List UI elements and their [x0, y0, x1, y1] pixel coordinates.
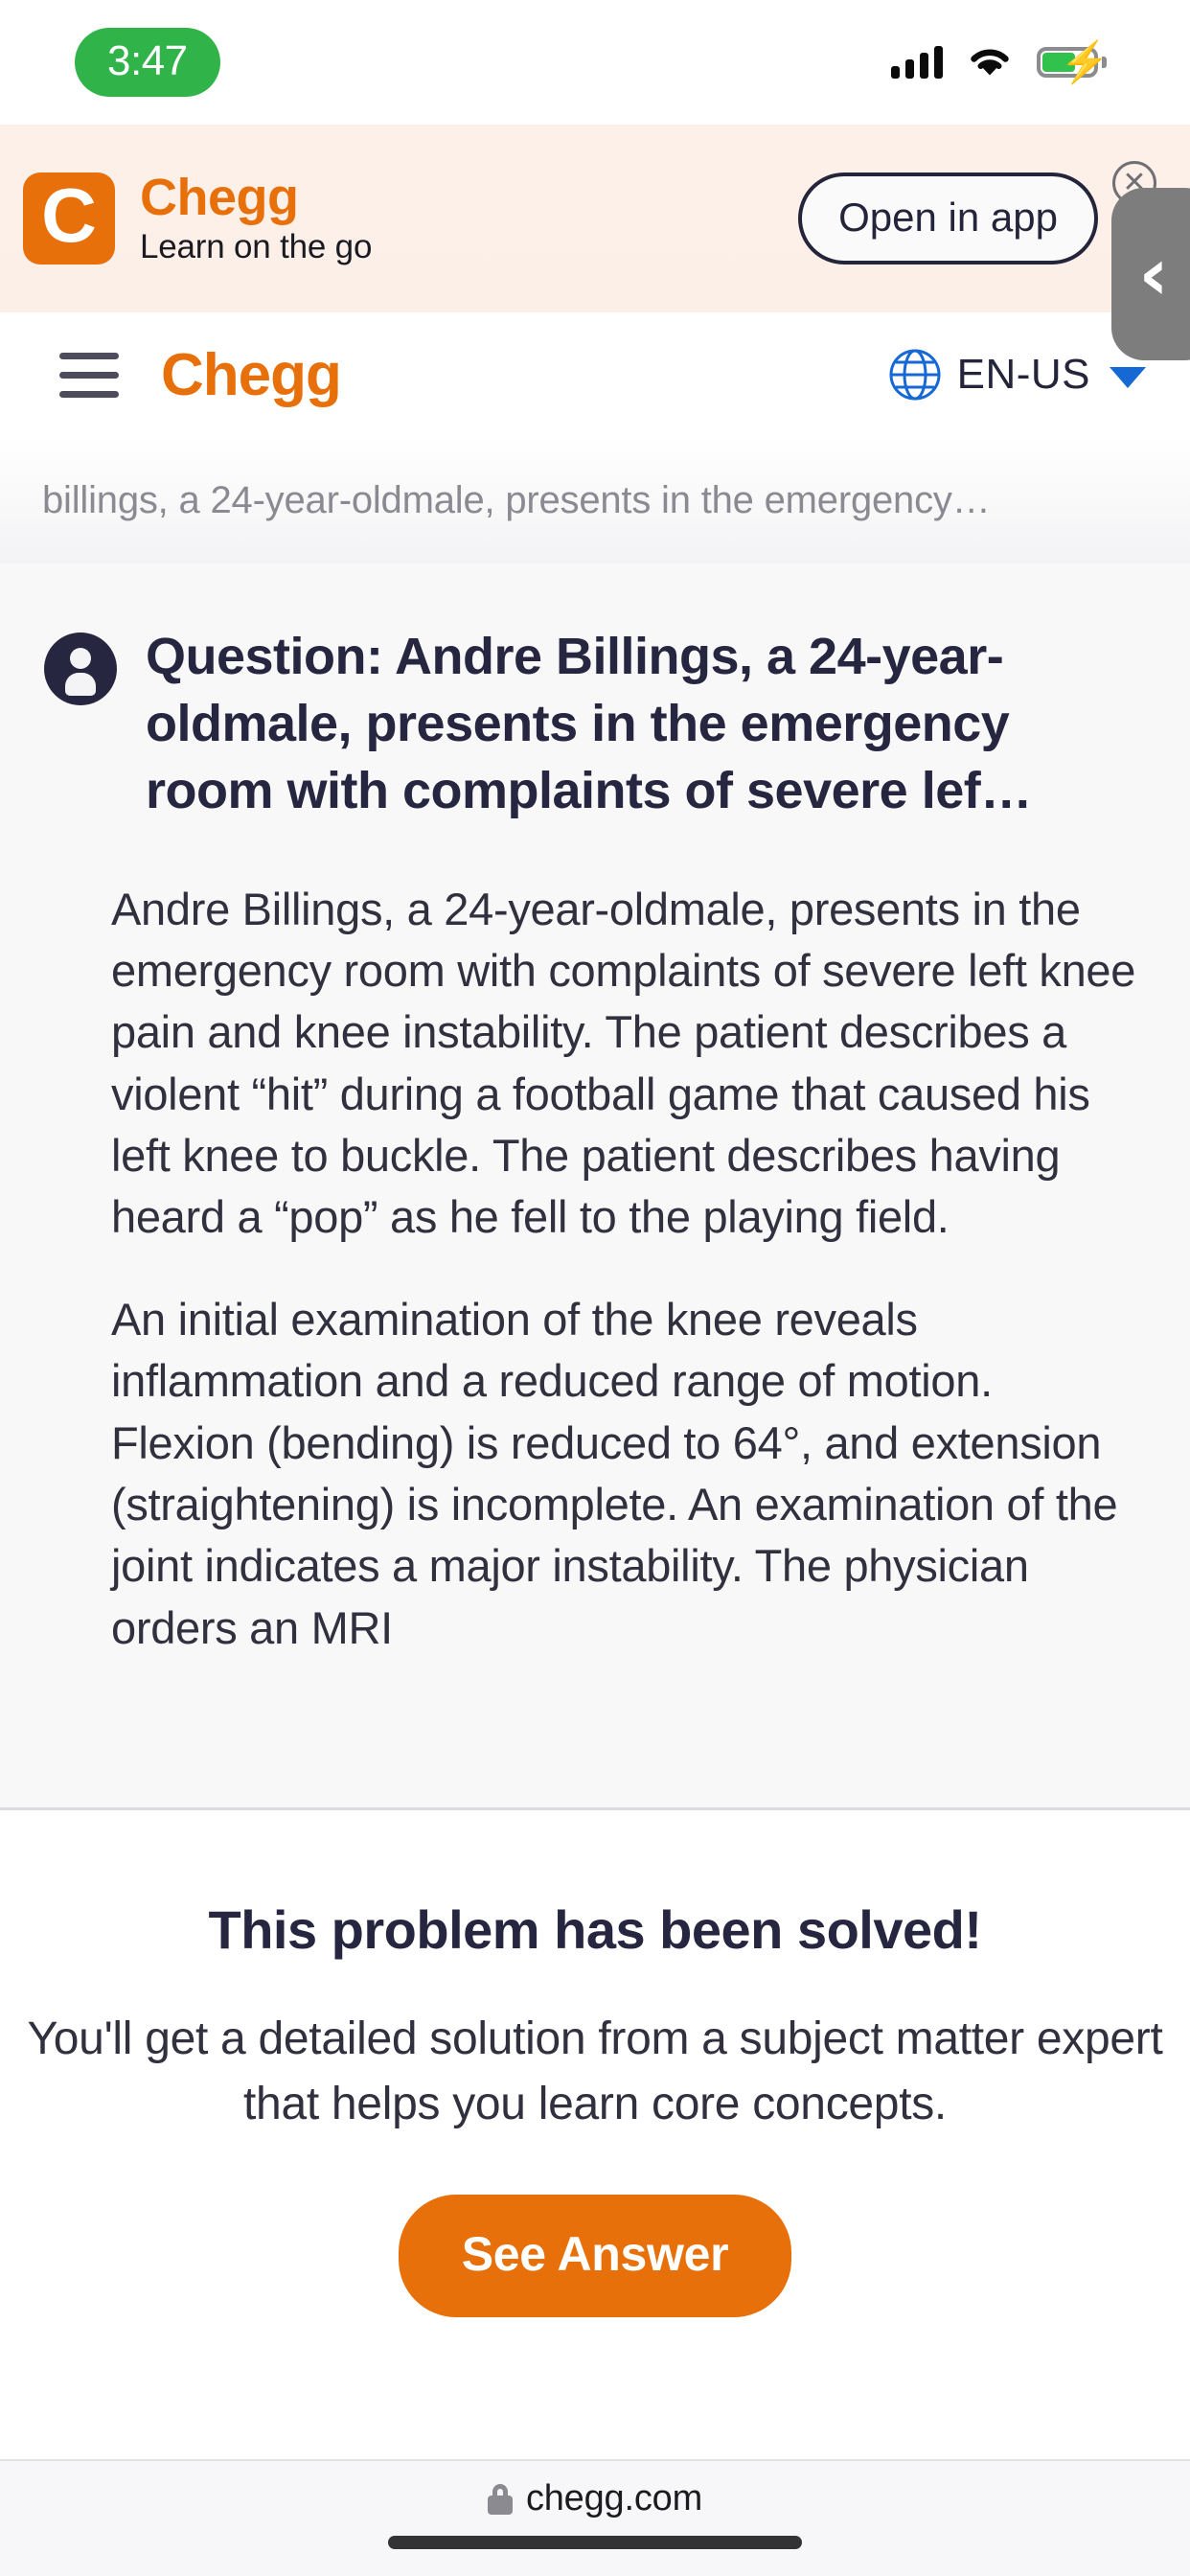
see-answer-button[interactable]: See Answer	[399, 2195, 792, 2317]
chevron-down-icon	[1110, 367, 1146, 388]
question-paragraph: An initial examination of the knee revea…	[111, 1289, 1144, 1659]
url-text: chegg.com	[526, 2478, 702, 2519]
question-header: Question: Andre Billings, a 24-year-oldm…	[0, 563, 1190, 825]
banner-tagline: Learn on the go	[140, 228, 372, 266]
open-in-app-button[interactable]: Open in app	[798, 172, 1098, 264]
banner-text-block: Chegg Learn on the go	[140, 171, 372, 267]
wifi-icon	[968, 46, 1012, 79]
status-indicators: ⚡	[891, 46, 1098, 79]
chegg-logo-tile: C	[23, 172, 115, 264]
locale-label: EN-US	[957, 351, 1090, 399]
battery-charging-icon: ⚡	[1037, 47, 1098, 78]
breadcrumb-text: billings, a 24-year-oldmale, presents in…	[42, 479, 991, 522]
url-display[interactable]: chegg.com	[488, 2478, 702, 2519]
chevron-left-icon: ‹	[1138, 238, 1168, 310]
lock-icon	[488, 2484, 513, 2515]
question-paragraph: Andre Billings, a 24-year-oldmale, prese…	[111, 879, 1144, 1249]
paywall-title: This problem has been solved!	[0, 1898, 1190, 1961]
browser-bottom-bar: chegg.com	[0, 2459, 1190, 2576]
page-title: Question: Andre Billings, a 24-year-oldm…	[146, 623, 1133, 825]
home-indicator[interactable]	[388, 2536, 802, 2549]
paywall-subtitle: You'll get a detailed solution from a su…	[0, 2007, 1190, 2137]
chegg-logo-letter: C	[41, 181, 97, 250]
status-bar: 3:47 ⚡	[0, 0, 1190, 125]
globe-icon	[888, 348, 942, 402]
open-in-app-banner: C Chegg Learn on the go Open in app ✕	[0, 125, 1190, 312]
locale-selector[interactable]: EN-US	[888, 348, 1146, 402]
hamburger-menu-icon[interactable]	[59, 353, 119, 398]
cellular-signal-icon	[891, 46, 943, 79]
status-time-pill[interactable]: 3:47	[75, 28, 220, 97]
question-section: Question: Andre Billings, a 24-year-oldm…	[0, 563, 1190, 1807]
banner-brand-name: Chegg	[140, 171, 372, 225]
breadcrumb[interactable]: billings, a 24-year-oldmale, presents in…	[0, 437, 1190, 563]
site-navigation-bar: Chegg EN-US	[0, 312, 1190, 437]
paywall-panel: This problem has been solved! You'll get…	[0, 1807, 1190, 2459]
back-gesture-tab[interactable]: ‹	[1111, 188, 1190, 360]
user-avatar-icon	[44, 632, 117, 705]
chegg-wordmark[interactable]: Chegg	[161, 341, 341, 409]
